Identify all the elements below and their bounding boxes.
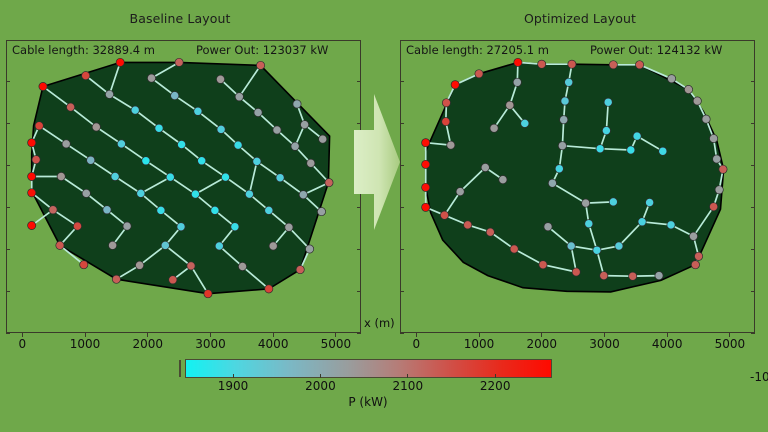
- x-tick-label: 4000: [258, 337, 289, 351]
- colorbar-title: P (kW): [348, 395, 387, 409]
- turbine-marker: [175, 58, 183, 66]
- turbine-marker: [147, 74, 155, 82]
- colorbar-tick-label: 1900: [218, 379, 249, 393]
- y-tick-mark-right: [751, 165, 755, 166]
- x-tick-label: 4000: [652, 337, 683, 351]
- turbine-marker: [638, 218, 646, 226]
- turbine-marker: [194, 107, 202, 115]
- y-tick-mark: [400, 207, 404, 208]
- turbine-marker: [296, 266, 304, 274]
- turbine-marker: [691, 261, 699, 269]
- x-tick-label: 2000: [132, 337, 163, 351]
- turbine-marker: [221, 173, 229, 181]
- turbine-marker: [109, 241, 117, 249]
- y-tick-mark-right: [751, 291, 755, 292]
- y-tick-mark: [400, 333, 404, 334]
- turbine-marker: [276, 174, 284, 182]
- turbine-marker: [117, 140, 125, 148]
- y-tick-mark: [6, 40, 10, 41]
- colorbar-tick-mark: [495, 374, 496, 378]
- turbine-marker: [254, 108, 262, 116]
- y-tick-mark: [400, 165, 404, 166]
- turbine-marker: [319, 135, 327, 143]
- turbine-marker: [558, 142, 566, 150]
- turbine-marker: [238, 262, 246, 270]
- x-tick-label: 1000: [70, 337, 101, 351]
- turbine-marker: [273, 126, 281, 134]
- turbine-marker: [513, 78, 521, 86]
- turbine-marker: [28, 172, 36, 180]
- turbine-marker: [604, 98, 612, 106]
- turbine-marker: [161, 241, 169, 249]
- turbine-marker: [609, 198, 617, 206]
- turbine-marker: [211, 206, 219, 214]
- turbine-marker: [257, 61, 265, 69]
- turbine-marker: [187, 262, 195, 270]
- turbine-marker: [655, 272, 663, 280]
- y-tick-mark: [400, 81, 404, 82]
- y-tick-mark: [6, 333, 10, 334]
- turbine-marker: [596, 145, 604, 153]
- turbine-marker: [137, 189, 145, 197]
- y-tick-mark-right: [357, 333, 361, 334]
- y-tick-mark: [6, 123, 10, 124]
- turbine-marker: [136, 261, 144, 269]
- turbine-marker: [490, 124, 498, 132]
- turbine-marker: [684, 85, 692, 93]
- edge-cut-text: -10: [750, 370, 768, 384]
- turbine-marker: [593, 246, 601, 254]
- turbine-marker: [166, 173, 174, 181]
- site-boundary-polygon: [426, 62, 724, 292]
- turbine-marker: [695, 252, 703, 260]
- turbine-marker: [67, 103, 75, 111]
- turbine-marker: [481, 163, 489, 171]
- y-tick-mark-right: [357, 40, 361, 41]
- turbine-marker: [693, 97, 701, 105]
- turbine-marker: [565, 78, 573, 86]
- turbine-marker: [521, 119, 529, 127]
- turbine-marker: [715, 186, 723, 194]
- cable-length-annotation-baseline: Cable length: 32889.4 m: [12, 43, 155, 57]
- turbine-marker: [646, 198, 654, 206]
- turbine-marker: [142, 157, 150, 165]
- turbine-marker: [103, 206, 111, 214]
- turbine-marker: [235, 93, 243, 101]
- turbine-marker: [602, 127, 610, 135]
- turbine-marker: [80, 261, 88, 269]
- y-tick-mark: [6, 165, 10, 166]
- turbine-marker: [486, 228, 494, 236]
- turbine-marker: [111, 172, 119, 180]
- turbine-marker: [306, 245, 314, 253]
- turbine-marker: [28, 221, 36, 229]
- turbine-marker: [49, 206, 57, 214]
- turbine-marker: [572, 268, 580, 276]
- turbine-marker: [301, 121, 309, 129]
- y-tick-mark: [6, 291, 10, 292]
- turbine-marker: [710, 134, 718, 142]
- turbine-marker: [269, 242, 277, 250]
- turbine-marker: [442, 99, 450, 107]
- turbine-marker: [39, 82, 47, 90]
- x-tick-label: 0: [18, 337, 26, 351]
- y-tick-mark-right: [751, 81, 755, 82]
- turbine-marker: [667, 221, 675, 229]
- turbine-marker: [116, 58, 124, 66]
- colorbar-left-stub: [179, 360, 181, 377]
- turbine-marker: [659, 147, 667, 155]
- turbine-marker: [514, 58, 522, 66]
- x-tick-label: 3000: [195, 337, 226, 351]
- y-tick-mark: [6, 249, 10, 250]
- turbine-marker: [215, 242, 223, 250]
- x-tick-label: 0: [412, 337, 420, 351]
- turbine-marker: [234, 141, 242, 149]
- y-tick-mark-right: [357, 81, 361, 82]
- turbine-marker: [713, 155, 721, 163]
- turbine-marker: [177, 223, 185, 231]
- y-tick-mark-right: [751, 40, 755, 41]
- cable-length-annotation-optimized: Cable length: 27205.1 m: [406, 43, 549, 57]
- turbine-marker: [629, 272, 637, 280]
- turbine-marker: [265, 206, 273, 214]
- turbine-marker: [456, 188, 464, 196]
- turbine-marker: [56, 241, 64, 249]
- turbine-marker: [131, 106, 139, 114]
- turbine-marker: [567, 242, 575, 250]
- turbine-marker: [28, 189, 36, 197]
- x-tick-label: 3000: [589, 337, 620, 351]
- turbine-marker: [265, 285, 273, 293]
- turbine-marker: [198, 157, 206, 165]
- y-tick-mark-right: [751, 123, 755, 124]
- turbine-marker: [422, 139, 430, 147]
- turbine-marker: [253, 157, 261, 165]
- turbine-marker: [204, 290, 212, 298]
- turbine-marker: [285, 223, 293, 231]
- y-tick-mark: [6, 81, 10, 82]
- turbine-marker: [123, 222, 131, 230]
- turbine-marker: [636, 61, 644, 69]
- y-tick-mark: [400, 249, 404, 250]
- turbine-marker: [464, 221, 472, 229]
- y-tick-mark: [400, 291, 404, 292]
- turbine-marker: [539, 261, 547, 269]
- turbine-marker: [73, 222, 81, 230]
- turbine-marker: [171, 92, 179, 100]
- x-tick-label: 5000: [715, 337, 746, 351]
- turbine-marker: [442, 118, 450, 126]
- turbine-marker: [32, 156, 40, 164]
- turbine-marker: [627, 146, 635, 154]
- colorbar-tick-mark: [320, 374, 321, 378]
- turbine-marker: [57, 172, 65, 180]
- figure-canvas: Baseline Layout Cable length: 32889.4 m …: [0, 0, 768, 432]
- turbine-marker: [422, 203, 430, 211]
- turbine-marker: [245, 190, 253, 198]
- colorbar-tick-label: 2100: [393, 379, 424, 393]
- turbine-marker: [82, 72, 90, 80]
- y-tick-mark-right: [751, 249, 755, 250]
- turbine-marker: [325, 179, 333, 187]
- colorbar-tick-label: 2000: [305, 379, 336, 393]
- x-tick-label: 2000: [526, 337, 557, 351]
- turbine-marker: [82, 189, 90, 197]
- turbine-marker: [451, 81, 459, 89]
- turbine-marker: [293, 100, 301, 108]
- y-tick-mark-right: [751, 207, 755, 208]
- turbine-marker: [548, 179, 556, 187]
- turbine-marker: [217, 125, 225, 133]
- turbine-marker: [35, 122, 43, 130]
- turbine-marker: [447, 141, 455, 149]
- turbine-marker: [561, 97, 569, 105]
- turbine-marker: [585, 220, 593, 228]
- turbine-marker: [307, 159, 315, 167]
- colorbar-tick-mark: [407, 374, 408, 378]
- turbine-marker: [719, 165, 727, 173]
- colorbar-tick-mark: [233, 374, 234, 378]
- turbine-marker: [317, 208, 325, 216]
- colorbar-tick-label: 2200: [480, 379, 511, 393]
- turbine-marker: [112, 275, 120, 283]
- power-out-annotation-optimized: Power Out: 124132 kW: [590, 43, 722, 57]
- turbine-marker: [689, 232, 697, 240]
- turbine-marker: [191, 190, 199, 198]
- power-out-annotation-baseline: Power Out: 123037 kW: [196, 43, 328, 57]
- turbine-marker: [600, 272, 608, 280]
- x-tick-label: 5000: [321, 337, 352, 351]
- turbine-marker: [668, 75, 676, 83]
- turbine-marker: [475, 70, 483, 78]
- turbine-marker: [155, 124, 163, 132]
- turbine-marker: [422, 183, 430, 191]
- x-tick-label: 1000: [464, 337, 495, 351]
- turbine-marker: [568, 60, 576, 68]
- turbine-marker: [92, 123, 100, 131]
- y-tick-mark-right: [357, 249, 361, 250]
- turbine-marker: [544, 223, 552, 231]
- turbine-marker: [87, 156, 95, 164]
- turbine-marker: [422, 160, 430, 168]
- turbine-marker: [105, 90, 113, 98]
- colorbar-gradient: [186, 360, 551, 377]
- y-tick-mark-right: [357, 291, 361, 292]
- turbine-marker: [506, 101, 514, 109]
- turbine-marker: [702, 115, 710, 123]
- turbine-marker: [178, 140, 186, 148]
- turbine-marker: [169, 276, 177, 284]
- turbine-marker: [609, 61, 617, 69]
- y-tick-mark: [400, 40, 404, 41]
- y-tick-mark-right: [751, 333, 755, 334]
- turbine-marker: [538, 60, 546, 68]
- turbine-marker: [633, 132, 641, 140]
- turbine-marker: [440, 211, 448, 219]
- turbine-marker: [615, 242, 623, 250]
- turbine-marker: [582, 199, 590, 207]
- turbine-marker: [291, 142, 299, 150]
- turbine-marker: [216, 75, 224, 83]
- y-tick-mark: [6, 207, 10, 208]
- turbine-marker: [231, 223, 239, 231]
- turbine-marker: [555, 165, 563, 173]
- turbine-marker: [157, 206, 165, 214]
- colorbar: [185, 359, 552, 378]
- panel-baseline: Baseline Layout Cable length: 32889.4 m …: [0, 0, 384, 355]
- turbine-marker: [299, 191, 307, 199]
- y-tick-mark: [400, 123, 404, 124]
- turbine-marker: [499, 176, 507, 184]
- turbine-marker: [62, 140, 70, 148]
- turbine-marker: [710, 203, 718, 211]
- panel-optimized: Optimized Layout Cable length: 27205.1 m…: [384, 0, 768, 355]
- turbine-marker: [560, 116, 568, 124]
- turbine-marker: [510, 245, 518, 253]
- turbine-marker: [28, 139, 36, 147]
